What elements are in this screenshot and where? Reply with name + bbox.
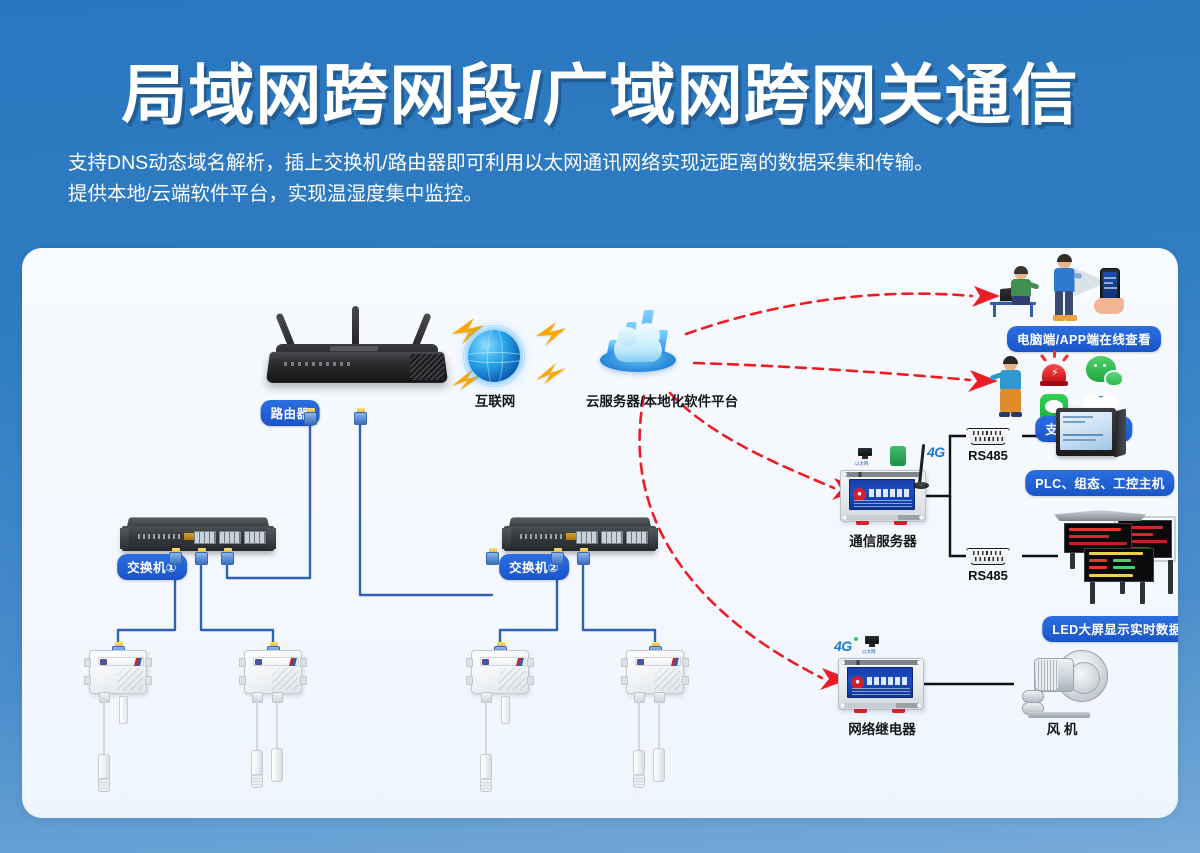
wire-to-switch2	[360, 548, 492, 595]
net-relay-node[interactable]	[838, 658, 924, 710]
alert-person-icon	[994, 356, 1028, 420]
ethernet-icon	[865, 636, 879, 649]
internet-label: 互联网	[475, 390, 516, 410]
pc-app-node[interactable]	[990, 254, 1130, 328]
led-display-icon	[1084, 548, 1154, 604]
comm-server-label: 通信服务器	[849, 530, 917, 550]
temperature-humidity-sensor-icon	[240, 650, 306, 800]
rs485-top-node[interactable]	[966, 428, 1010, 445]
dash-cloud-to-pc	[686, 294, 972, 334]
rj45-plug-icon	[577, 548, 590, 565]
signal-indicator-icon	[890, 446, 906, 466]
dash-cloud-to-alarm	[694, 363, 970, 380]
temperature-humidity-sensor-icon	[467, 650, 533, 800]
antenna-base-icon	[913, 482, 929, 489]
page-title: 局域网跨网段/广域网跨网关通信	[0, 42, 1200, 138]
subtitle-line-2: 提供本地/云端软件平台，实现温湿度集中监控。	[68, 179, 1153, 210]
line-comm-rs485-bottom	[950, 496, 966, 556]
cloud-platform-icon	[592, 310, 692, 380]
rj45-plug-icon	[221, 548, 234, 565]
ethernet-icon-label: 以太网	[855, 461, 869, 467]
led-display-post	[1168, 560, 1173, 594]
page-subtitle: 支持DNS动态域名解析，插上交换机/路由器即可利用以太网通讯网络实现远距离的数据…	[68, 148, 1153, 210]
cloud-platform-node[interactable]	[592, 310, 692, 380]
seated-person-icon	[1006, 268, 1038, 310]
diagram-panel: 路由器 互联网 云服务器/本地化软件平台	[22, 248, 1178, 818]
wechat-icon	[1086, 356, 1116, 382]
phone-user-icon	[1100, 268, 1120, 302]
wire-sw2-sensor4	[583, 566, 655, 653]
signal-dot-icon	[854, 637, 858, 641]
sensor-3[interactable]	[467, 650, 533, 800]
fan-node[interactable]	[1018, 648, 1108, 720]
header: 局域网跨网段/广域网跨网关通信 支持DNS动态域名解析，插上交换机/路由器即可利…	[0, 0, 1200, 240]
rj45-plug-icon	[195, 548, 208, 565]
internet-node[interactable]	[464, 326, 524, 386]
fan-label: 风 机	[1047, 718, 1078, 738]
lightning-bolt-icon	[534, 356, 572, 384]
rs485-top-label: RS485	[968, 448, 1008, 463]
plc-host-node[interactable]	[1056, 408, 1130, 464]
subtitle-line-1: 支持DNS动态域名解析，插上交换机/路由器即可利用以太网通讯网络实现远距离的数据…	[68, 148, 1153, 179]
rj45-plug-icon	[304, 408, 317, 425]
4g-icon: 4G	[927, 444, 945, 460]
temperature-humidity-sensor-icon	[622, 650, 688, 800]
lightning-bolt-icon	[534, 320, 572, 348]
rj45-plug-icon	[486, 548, 499, 565]
ethernet-icon-label: 以太网	[862, 649, 876, 655]
sensor-1[interactable]	[85, 650, 151, 800]
network-relay-icon	[838, 658, 924, 710]
rs485-bottom-label: RS485	[968, 568, 1008, 583]
wire-to-switch1	[227, 566, 310, 578]
rs485-bottom-node[interactable]	[966, 548, 1010, 565]
rj45-plug-icon	[169, 548, 182, 565]
alarm-lamp-icon: ⚡	[1040, 358, 1068, 386]
diagram-stage: 路由器 互联网 云服务器/本地化软件平台	[22, 248, 1178, 818]
router-icon	[268, 306, 448, 398]
temperature-humidity-sensor-icon	[85, 650, 151, 800]
led-screen-label: LED大屏显示实时数据	[1042, 616, 1178, 642]
comm-server-node[interactable]	[840, 470, 926, 522]
blower-fan-icon	[1018, 648, 1108, 720]
net-relay-label: 网络继电器	[848, 718, 916, 738]
rj45-plug-icon	[551, 548, 564, 565]
industrial-monitor-icon	[1056, 408, 1130, 464]
hand-icon	[1094, 298, 1124, 314]
4g-icon: 4G	[834, 638, 852, 654]
rj45-plug-icon	[354, 408, 367, 425]
router-node[interactable]	[268, 306, 448, 398]
cloud-platform-label: 云服务器/本地化软件平台	[586, 390, 738, 410]
plc-host-label: PLC、组态、工控主机	[1025, 470, 1174, 496]
communication-server-icon	[840, 470, 926, 522]
ethernet-icon	[858, 448, 872, 461]
sensor-2[interactable]	[240, 650, 306, 800]
led-screen-node[interactable]	[1056, 510, 1176, 610]
sensor-4[interactable]	[622, 650, 688, 800]
